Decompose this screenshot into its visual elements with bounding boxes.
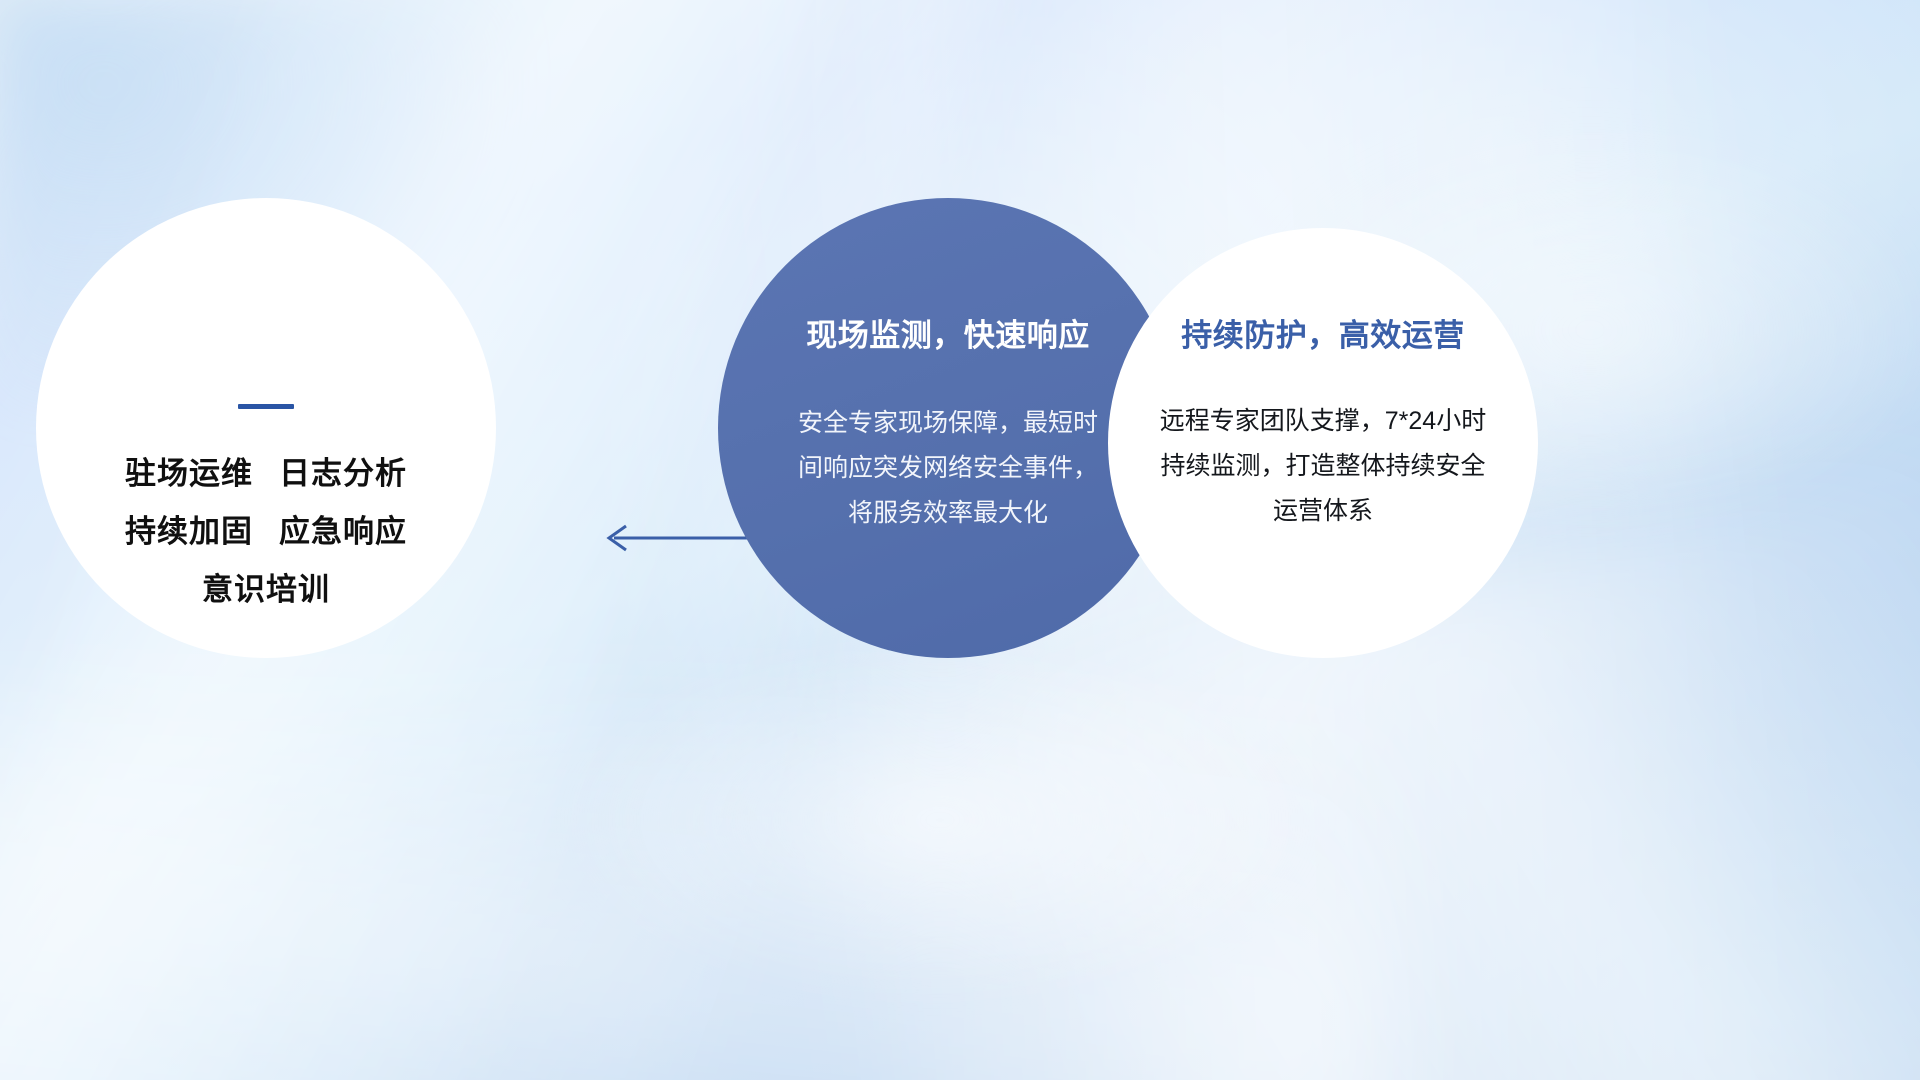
list-item: 持续加固应急响应 bbox=[125, 503, 407, 561]
slide-canvas: 驻场运维日志分析 持续加固应急响应 意识培训 现场监测，快速响应 安全专家现场保… bbox=[0, 0, 1920, 1080]
background-streak-bottom bbox=[0, 700, 1380, 1080]
keyword: 驻场运维 bbox=[125, 456, 253, 491]
left-keyword-list: 驻场运维日志分析 持续加固应急响应 意识培训 bbox=[125, 445, 407, 619]
left-keyword-circle: 驻场运维日志分析 持续加固应急响应 意识培训 bbox=[36, 198, 496, 658]
list-item: 意识培训 bbox=[125, 561, 407, 619]
keyword: 持续加固 bbox=[125, 514, 253, 549]
keyword: 日志分析 bbox=[279, 456, 407, 491]
right-card-body: 远程专家团队支撑，7*24小时持续监测，打造整体持续安全运营体系 bbox=[1150, 399, 1496, 534]
middle-card-title: 现场监测，快速响应 bbox=[806, 310, 1090, 355]
list-item: 驻场运维日志分析 bbox=[125, 445, 407, 503]
keyword: 意识培训 bbox=[202, 572, 330, 607]
middle-card-body: 安全专家现场保障，最短时间响应突发网络安全事件，将服务效率最大化 bbox=[798, 401, 1098, 536]
right-card-circle: 持续防护，高效运营 远程专家团队支撑，7*24小时持续监测，打造整体持续安全运营… bbox=[1108, 228, 1538, 658]
divider-dash-icon bbox=[238, 404, 294, 409]
keyword: 应急响应 bbox=[279, 514, 407, 549]
background-glow-bottom-center bbox=[560, 640, 1320, 1000]
right-card-title: 持续防护，高效运营 bbox=[1181, 310, 1465, 355]
